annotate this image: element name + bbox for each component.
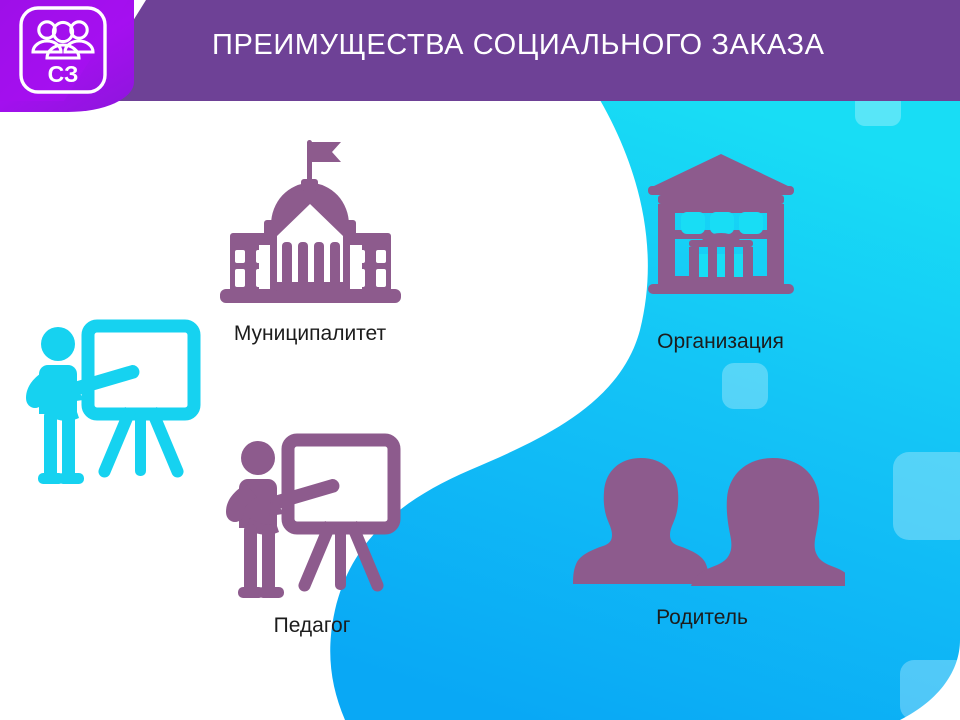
node-label: Организация <box>618 330 823 354</box>
teacher-at-board-icon <box>222 432 412 607</box>
node-label: Родитель <box>557 606 847 630</box>
page-title: ПРЕИМУЩЕСТВА СОЦИАЛЬНОГО ЗАКАЗА <box>212 29 942 62</box>
node-teacher-purple[interactable]: Педагог <box>222 432 422 652</box>
header-banner: СЗ ПРЕИМУЩЕСТВА СОЦИАЛЬНОГО ЗАКАЗА <box>0 0 960 101</box>
decorative-square <box>900 660 960 720</box>
logo-sz[interactable]: СЗ <box>17 4 109 96</box>
government-building-icon <box>208 132 413 317</box>
group-of-people-icon <box>33 22 93 58</box>
node-teacher-cyan[interactable] <box>22 318 212 493</box>
slide-canvas: СЗ ПРЕИМУЩЕСТВА СОЦИАЛЬНОГО ЗАКАЗА <box>0 0 960 720</box>
teacher-at-board-icon <box>22 318 212 493</box>
two-people-silhouette-icon <box>573 456 845 586</box>
node-organization[interactable]: Организация <box>618 150 823 365</box>
node-label: Муниципалитет <box>185 322 435 346</box>
institution-building-icon <box>642 150 800 302</box>
decorative-square <box>893 452 960 540</box>
node-label: Педагог <box>212 614 412 638</box>
node-municipality[interactable]: Муниципалитет <box>185 132 435 360</box>
node-parent[interactable]: Родитель <box>565 456 855 646</box>
logo-abbreviation: СЗ <box>48 61 79 87</box>
decorative-square <box>722 363 768 409</box>
